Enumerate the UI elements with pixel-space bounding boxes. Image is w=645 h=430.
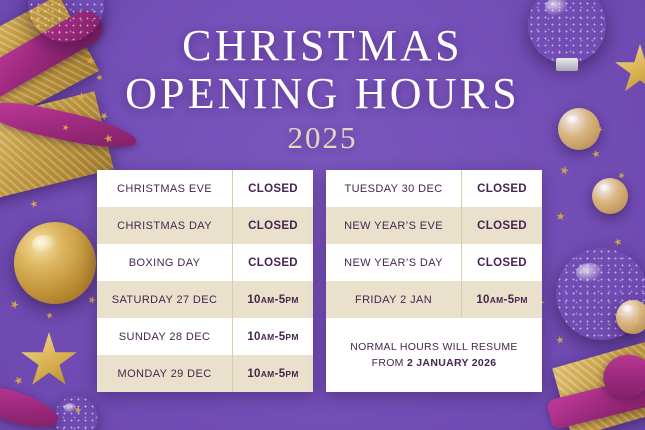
hours-value: 10AM-5PM	[462, 281, 542, 318]
time-close: 5	[279, 368, 286, 380]
resume-note-text: NORMAL HOURS WILL RESUMEFROM 2 JANUARY 2…	[350, 339, 517, 371]
hours-value: 10AM-5PM	[233, 318, 313, 355]
pink-glitter-bauble-bottom-right	[556, 248, 645, 340]
star-confetti	[12, 374, 24, 386]
gold-gift-box-bottom-right	[552, 338, 645, 430]
hours-value: CLOSED	[233, 207, 313, 244]
table-row: NEW YEAR’S DAYCLOSED	[326, 244, 542, 281]
day-label: CHRISTMAS DAY	[97, 207, 233, 244]
gold-glitter-star-bottom-left	[20, 332, 78, 390]
title-line-christmas: CHRISTMAS	[0, 22, 645, 70]
day-label: FRIDAY 2 JAN	[326, 281, 462, 318]
day-label: SATURDAY 27 DEC	[97, 281, 233, 318]
hours-value: 10AM-5PM	[233, 355, 313, 392]
meridiem-open: AM	[490, 295, 504, 305]
gold-matte-bauble-bottom-left	[14, 222, 96, 304]
table-row: CHRISTMAS EVECLOSED	[97, 170, 313, 207]
star-confetti	[556, 212, 566, 222]
status-value: CLOSED	[248, 183, 298, 195]
table-row: CHRISTMAS DAYCLOSED	[97, 207, 313, 244]
status-value: CLOSED	[477, 183, 527, 195]
time-close: 5	[508, 294, 515, 306]
day-label: TUESDAY 30 DEC	[326, 170, 462, 207]
table-row: SATURDAY 27 DEC10AM-5PM	[97, 281, 313, 318]
status-value: CLOSED	[248, 257, 298, 269]
magenta-ribbon-bottom-right	[546, 372, 645, 430]
table-row: BOXING DAYCLOSED	[97, 244, 313, 281]
table-row: NEW YEAR’S EVECLOSED	[326, 207, 542, 244]
clear-gold-bauble-bottom-left	[54, 396, 98, 430]
star-confetti	[46, 312, 54, 320]
star-confetti	[29, 199, 39, 209]
resume-note-date: 2 JANUARY 2026	[407, 357, 496, 369]
opening-hours-table-right: TUESDAY 30 DECCLOSEDNEW YEAR’S EVECLOSED…	[326, 170, 542, 392]
title-year: 2025	[0, 120, 645, 156]
title-line-opening-hours: OPENING HOURS	[0, 70, 645, 118]
striped-bauble-right	[592, 178, 628, 214]
hours-value: CLOSED	[233, 170, 313, 207]
meridiem-open: AM	[261, 295, 275, 305]
day-label: NEW YEAR’S EVE	[326, 207, 462, 244]
hours-value: CLOSED	[462, 207, 542, 244]
day-label: NEW YEAR’S DAY	[326, 244, 462, 281]
star-confetti	[617, 171, 626, 180]
meridiem-close: PM	[285, 369, 298, 379]
time-open: 10	[247, 294, 260, 306]
meridiem-close: PM	[285, 295, 298, 305]
star-confetti	[613, 237, 623, 247]
star-confetti	[9, 299, 21, 311]
poster-heading: CHRISTMAS OPENING HOURS 2025	[0, 22, 645, 156]
hours-value: 10AM-5PM	[233, 281, 313, 318]
star-confetti	[559, 165, 570, 176]
gold-bauble-bottom-right-small	[616, 300, 645, 334]
star-confetti	[555, 335, 564, 344]
meridiem-open: AM	[261, 332, 275, 342]
table-row: MONDAY 29 DEC10AM-5PM	[97, 355, 313, 392]
poster-canvas: CHRISTMAS OPENING HOURS 2025 CHRISTMAS E…	[0, 0, 645, 430]
hours-value: CLOSED	[462, 170, 542, 207]
time-open: 10	[247, 368, 260, 380]
magenta-bow-bottom-right	[598, 347, 645, 404]
table-row: TUESDAY 30 DECCLOSED	[326, 170, 542, 207]
time-close: 5	[279, 294, 286, 306]
meridiem-open: AM	[261, 369, 275, 379]
meridiem-close: PM	[285, 332, 298, 342]
table-row: SUNDAY 28 DEC10AM-5PM	[97, 318, 313, 355]
table-row: FRIDAY 2 JAN10AM-5PM	[326, 281, 542, 318]
status-value: CLOSED	[477, 220, 527, 232]
resume-note-line-1: NORMAL HOURS WILL RESUME	[350, 341, 517, 353]
resume-note-prefix: FROM	[372, 357, 407, 369]
resume-note: NORMAL HOURS WILL RESUMEFROM 2 JANUARY 2…	[326, 318, 542, 392]
meridiem-close: PM	[514, 295, 527, 305]
day-label: BOXING DAY	[97, 244, 233, 281]
star-confetti	[87, 295, 97, 305]
status-value: CLOSED	[477, 257, 527, 269]
magenta-ribbon-bottom-left	[0, 379, 62, 430]
time-open: 10	[247, 331, 260, 343]
time-close: 5	[279, 331, 286, 343]
star-confetti	[73, 405, 82, 414]
time-open: 10	[476, 294, 489, 306]
day-label: MONDAY 29 DEC	[97, 355, 233, 392]
opening-hours-table-left: CHRISTMAS EVECLOSEDCHRISTMAS DAYCLOSEDBO…	[97, 170, 313, 392]
status-value: CLOSED	[248, 220, 298, 232]
hours-value: CLOSED	[233, 244, 313, 281]
day-label: SUNDAY 28 DEC	[97, 318, 233, 355]
hours-value: CLOSED	[462, 244, 542, 281]
day-label: CHRISTMAS EVE	[97, 170, 233, 207]
